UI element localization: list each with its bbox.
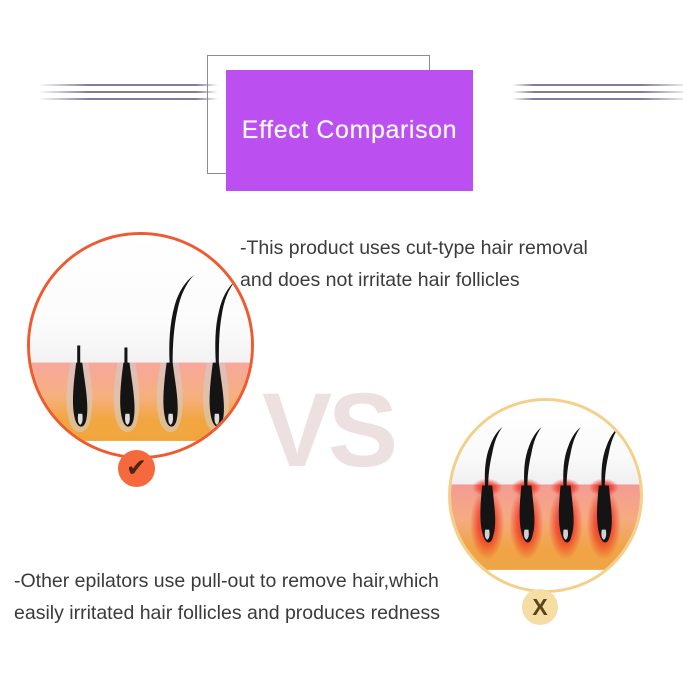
good-caption-line-1: -This product uses cut-type hair removal: [240, 232, 588, 264]
deco-line: [38, 84, 218, 86]
bad-illustration-circle: [448, 398, 643, 593]
good-caption-line-2: and does not irritate hair follicles: [240, 264, 588, 296]
decorative-lines-right-icon: [512, 84, 683, 110]
poster-stage: Effect Comparison VS -This product uses …: [0, 0, 683, 683]
good-skin-diagram: [30, 235, 251, 456]
good-check-badge: ✔: [118, 450, 155, 487]
deco-line: [512, 98, 683, 100]
deco-line: [512, 84, 683, 86]
bad-skin-diagram: [451, 401, 640, 590]
check-icon: ✔: [126, 456, 147, 481]
decorative-lines-left-icon: [38, 84, 218, 110]
deco-line: [38, 98, 218, 100]
bad-cross-badge: X: [522, 589, 558, 625]
bad-caption: -Other epilators use pull-out to remove …: [14, 565, 440, 629]
deco-line: [38, 91, 218, 93]
bad-caption-line-1: -Other epilators use pull-out to remove …: [14, 565, 440, 597]
deco-line: [512, 91, 683, 93]
good-caption: -This product uses cut-type hair removal…: [240, 232, 588, 296]
cross-icon: X: [532, 596, 547, 619]
good-illustration-circle: [27, 232, 254, 459]
header-banner: Effect Comparison: [0, 0, 683, 175]
bad-caption-line-2: easily irritated hair follicles and prod…: [14, 597, 440, 629]
title-banner-box: Effect Comparison: [226, 70, 473, 191]
page-title: Effect Comparison: [242, 118, 457, 143]
versus-watermark: VS: [262, 378, 394, 483]
